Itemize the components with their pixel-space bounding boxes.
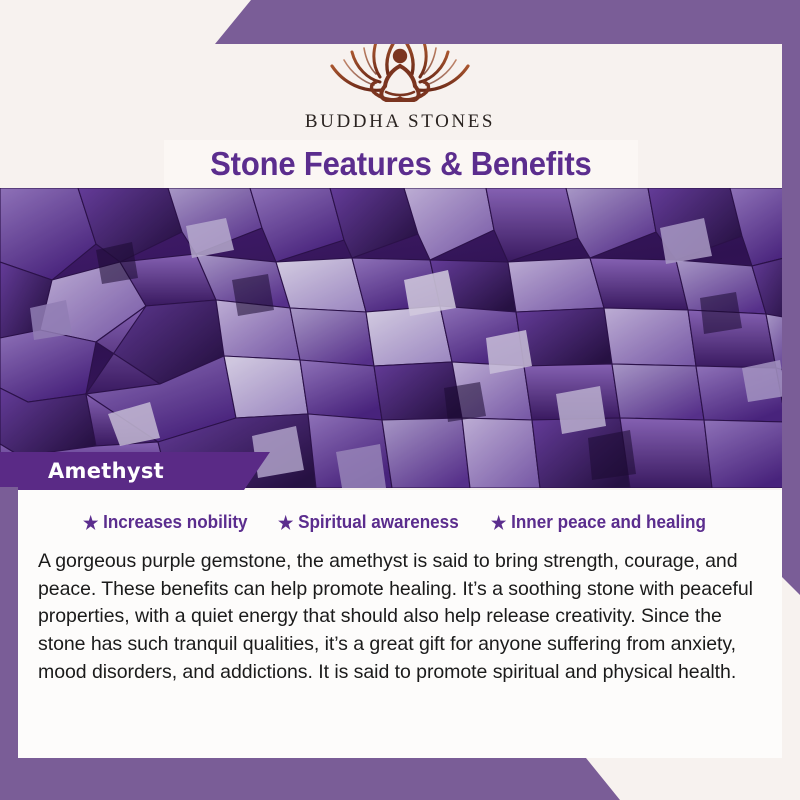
benefit-item-1: ★ Increases nobility [83, 512, 248, 533]
frame-bottom-bar [0, 758, 620, 800]
frame-left-bar [0, 487, 18, 800]
brand-name: BUDDHA STONES [305, 111, 495, 133]
page-title: Stone Features & Benefits [210, 145, 591, 183]
stone-name: Amethyst [48, 459, 164, 483]
benefit-label: Inner peace and healing [511, 512, 706, 533]
amethyst-crystal-photo [0, 188, 800, 488]
crystal-cluster-graphic [0, 188, 800, 488]
stone-label-banner: Amethyst [0, 452, 270, 490]
promo-card: BUDDHA STONES Stone Features & Benefits [0, 0, 800, 800]
frame-top-bar [215, 0, 800, 44]
frame-right-bar [782, 0, 800, 595]
star-icon: ★ [278, 514, 293, 532]
benefits-list: ★ Increases nobility ★ Spiritual awarene… [38, 512, 762, 533]
headline-bar: Stone Features & Benefits [164, 140, 638, 188]
benefit-label: Spiritual awareness [298, 512, 459, 533]
benefit-label: Increases nobility [103, 512, 247, 533]
stone-description: A gorgeous purple gemstone, the amethyst… [38, 548, 762, 686]
benefit-item-2: ★ Spiritual awareness [278, 512, 459, 533]
star-icon: ★ [491, 514, 506, 532]
content-panel: ★ Increases nobility ★ Spiritual awarene… [18, 490, 782, 758]
benefit-item-3: ★ Inner peace and healing [491, 512, 706, 533]
star-icon: ★ [83, 514, 98, 532]
